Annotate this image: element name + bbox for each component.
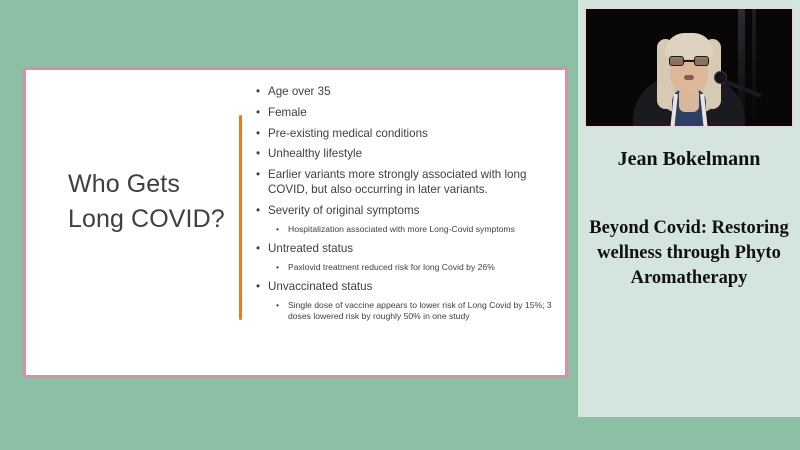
bullet-item: Unhealthy lifestyle: [255, 146, 555, 161]
slide-bullet-list: Age over 35 Female Pre-existing medical …: [255, 84, 555, 328]
orange-divider-line: [239, 115, 242, 320]
bullet-item: Earlier variants more strongly associate…: [255, 167, 555, 197]
bullet-item: Pre-existing medical conditions: [255, 126, 555, 141]
stage-light-streak: [752, 9, 756, 126]
bullet-item: Untreated status: [255, 241, 555, 256]
bullet-item: Age over 35: [255, 84, 555, 99]
eyeglasses-icon: [669, 56, 709, 66]
slide-content: Who Gets Long COVID? Age over 35 Female …: [26, 70, 565, 375]
slide: Who Gets Long COVID? Age over 35 Female …: [23, 67, 568, 378]
slide-title: Who Gets Long COVID?: [68, 167, 228, 237]
speaker-mouth-icon: [684, 75, 694, 80]
speaker-video-feed[interactable]: [586, 9, 792, 126]
speaker-panel: Jean Bokelmann Beyond Covid: Restoring w…: [578, 0, 800, 417]
bullet-item: Severity of original symptoms: [255, 203, 555, 218]
speaker-video-frame[interactable]: [584, 7, 794, 128]
bullet-item: Female: [255, 105, 555, 120]
bullet-item: Unvaccinated status: [255, 279, 555, 294]
presentation-stage: Who Gets Long COVID? Age over 35 Female …: [0, 0, 800, 450]
sub-bullet-item: Single dose of vaccine appears to lower …: [255, 300, 555, 323]
sub-bullet-item: Hospitalization associated with more Lon…: [255, 224, 555, 236]
speaker-name: Jean Bokelmann: [578, 148, 800, 171]
talk-title: Beyond Covid: Restoring wellness through…: [586, 216, 792, 291]
sub-bullet-item: Paxlovid treatment reduced risk for long…: [255, 262, 555, 274]
